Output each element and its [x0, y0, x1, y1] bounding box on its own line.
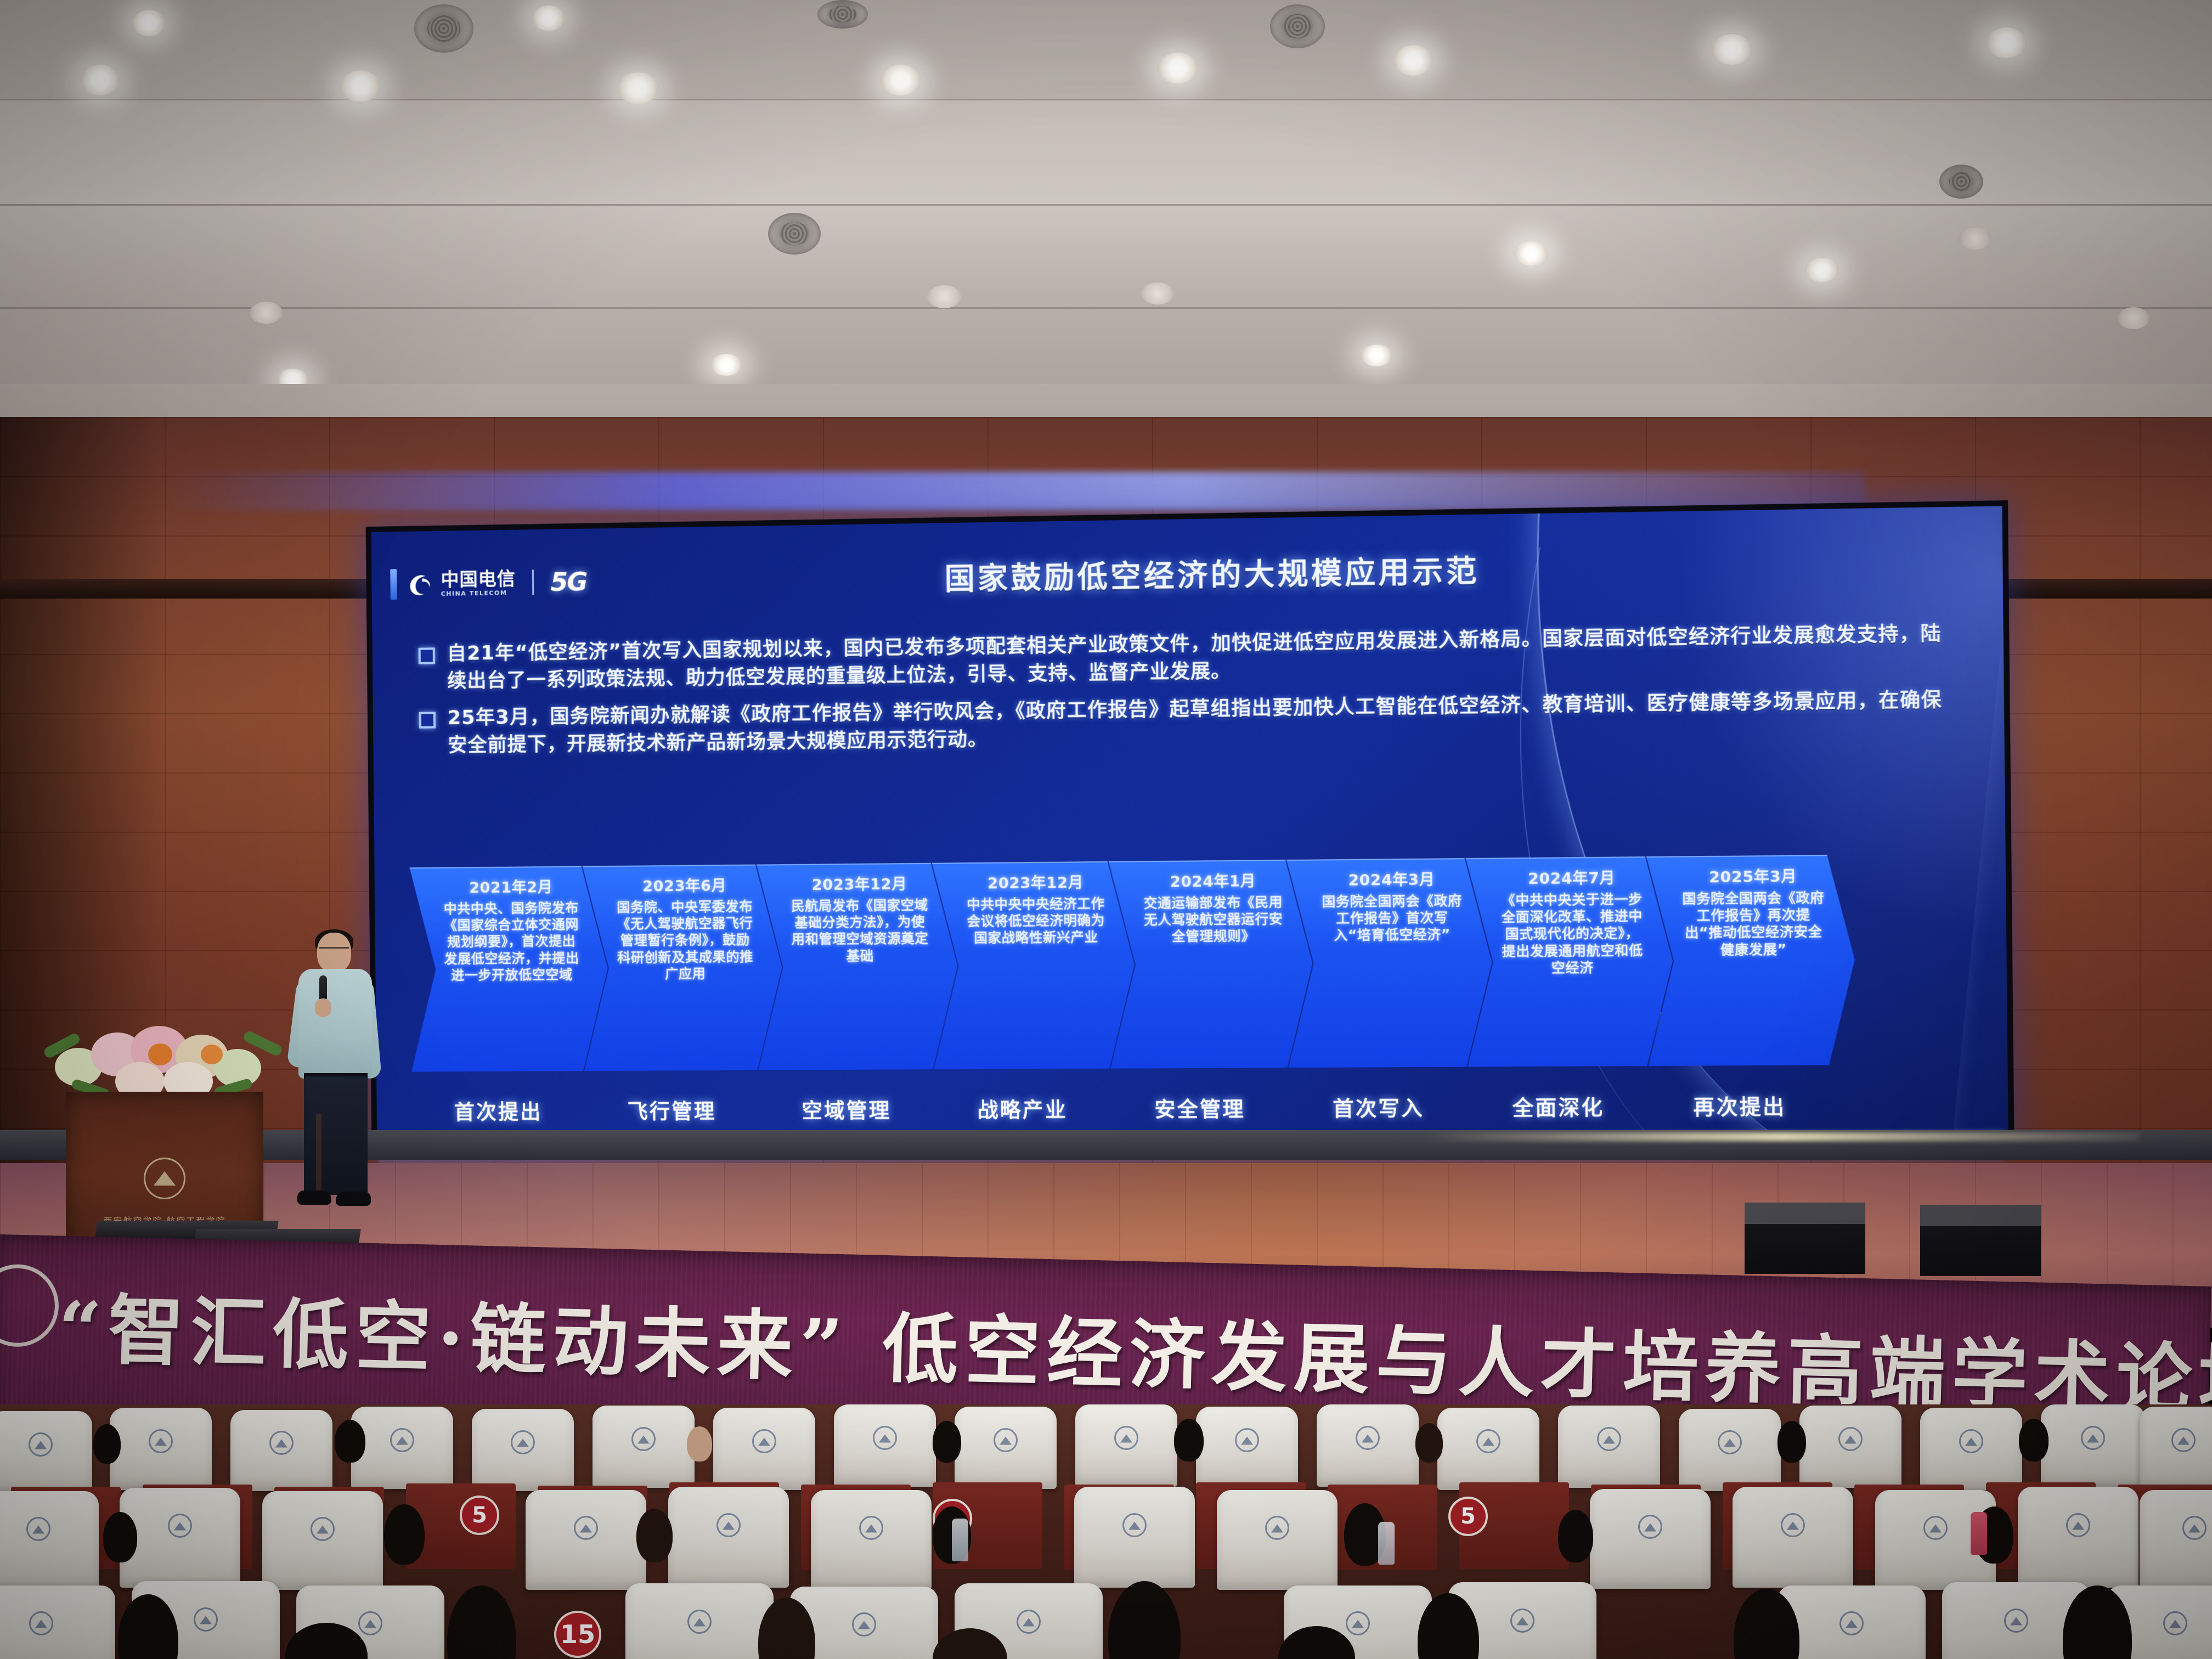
ceiling-downlight-off: [250, 302, 283, 324]
seat: [834, 1404, 936, 1487]
policy-timeline: 2021年2月 中共中央、国务院发布《国家综合立体交通网规划纲要》，首次提出发展…: [409, 855, 1830, 1071]
seat-emblem-icon: [716, 1513, 741, 1537]
audience-head: [335, 1420, 365, 1463]
timeline-step: 2024年7月 《中共中央关于进一步全面深化改革、推进中国式现代化的决定》，提出…: [1466, 856, 1674, 1067]
water-bottle: [952, 1519, 968, 1561]
seat-emblem-icon: [752, 1429, 776, 1453]
seat-emblem-icon: [2171, 1428, 2196, 1452]
seat-emblem-icon: [994, 1428, 1018, 1452]
seat: [1196, 1407, 1298, 1489]
seat-emblem-icon: [29, 1611, 53, 1635]
timeline-desc: 《中共中央关于进一步全面深化改革、推进中国式现代化的决定》，提出发展通用航空和低…: [1498, 891, 1646, 977]
ceiling-downlight: [1712, 34, 1752, 65]
timeline-label: 首次写入: [1289, 1092, 1468, 1122]
seat: [526, 1490, 646, 1590]
seat-emblem-icon: [1510, 1609, 1534, 1633]
seat: [1558, 1406, 1660, 1488]
seat-emblem-icon: [2004, 1609, 2028, 1633]
presenter-leg-gap: [316, 1114, 321, 1190]
pa-loudspeaker: [1745, 1203, 1865, 1274]
timeline-desc: 中共中央中央经济工作会议将低空经济明确为国家战略性新兴产业: [963, 895, 1108, 947]
timeline-step: 2025年3月 国务院全国两会《政府工作报告》再次提出“推动低空经济安全健康发展…: [1646, 855, 1856, 1066]
timeline-label: 战略产业: [934, 1093, 1111, 1124]
seat: [713, 1408, 815, 1490]
seat-number-badge: 5: [460, 1496, 499, 1535]
seat-emblem-icon: [1597, 1427, 1621, 1451]
audience-head: [687, 1426, 712, 1462]
seat: [1317, 1404, 1419, 1487]
seat-emblem-icon: [852, 1612, 876, 1637]
seat-emblem-icon: [149, 1429, 173, 1453]
seat-emblem-icon: [1017, 1610, 1041, 1634]
seat: [1733, 1487, 1853, 1588]
audience-head: [933, 1421, 961, 1463]
banner-seal-icon: [0, 1263, 60, 1347]
seat-emblem-icon: [511, 1430, 535, 1454]
seat: [2018, 1487, 2138, 1588]
led-screen: 中国电信 CHINA TELECOM 5G 国家鼓励低空经济的大规模应用示范 自…: [366, 500, 2015, 1147]
timeline-desc: 交通运输部发布《民用无人驾驶航空器运行安全管理规则》: [1141, 894, 1286, 945]
seat-emblem-icon: [1781, 1513, 1805, 1537]
ceiling-downlight: [1158, 53, 1198, 83]
timeline-date: 2023年12月: [988, 871, 1084, 893]
ceiling-downlight: [340, 70, 381, 102]
ceiling-downlight: [132, 10, 166, 36]
seat: [1075, 1404, 1177, 1487]
seat-emblem-icon: [168, 1514, 192, 1538]
seat-emblem-icon: [687, 1610, 712, 1634]
seat: [1074, 1487, 1195, 1588]
seat-emblem-icon: [358, 1611, 382, 1635]
ceiling-downlight: [1361, 345, 1392, 366]
seat: [1778, 1585, 1926, 1659]
seat-emblem-icon: [1346, 1611, 1370, 1635]
ceiling-vent: [817, 0, 868, 29]
seat: [2140, 1490, 2212, 1590]
glasses-icon: [319, 947, 349, 953]
presenter-shoe: [336, 1192, 371, 1206]
timeline-desc: 中共中央、国务院发布《国家综合立体交通网规划纲要》，首次提出发展低空经济，并提出…: [441, 900, 583, 984]
seat-emblem-icon: [574, 1516, 598, 1540]
presenter-shoe: [297, 1190, 331, 1205]
seat: [955, 1407, 1057, 1489]
ceiling: [0, 0, 2212, 417]
bullet-item: 自21年“低空经济”首次写入国家规划以来，国内已发布多项配套相关产业政策文件，加…: [419, 620, 1942, 696]
telecom-name-cn: 中国电信: [441, 569, 516, 589]
seat-emblem-icon: [29, 1432, 53, 1457]
ceiling-downlight-off: [1959, 228, 1991, 250]
audience-head: [1415, 1423, 1443, 1463]
audience-seating: 5 5 5 15: [0, 1404, 2212, 1659]
presenter-trousers: [304, 1076, 368, 1195]
ceiling-vent: [1939, 165, 1983, 199]
seat-emblem-icon: [390, 1428, 414, 1452]
timeline-date: 2024年1月: [1170, 869, 1256, 891]
ceiling-downlight-off: [2118, 307, 2149, 329]
seat: [1679, 1409, 1781, 1491]
ceiling-downlight-off: [927, 285, 961, 308]
seat-emblem-icon: [2081, 1426, 2105, 1450]
audience-head: [1778, 1421, 1806, 1463]
audience-head: [1558, 1510, 1593, 1562]
timeline-desc: 民航局发布《国家空域基础分类方法》，为使用和管理空域资源奠定基础: [788, 897, 932, 965]
audience-head: [103, 1512, 137, 1562]
square-bullet-icon: [419, 647, 435, 664]
presentation-slide: 中国电信 CHINA TELECOM 5G 国家鼓励低空经济的大规模应用示范 自…: [371, 506, 2008, 1141]
pa-loudspeaker: [1920, 1205, 2041, 1276]
timeline-label: 空域管理: [759, 1094, 934, 1125]
seat: [1590, 1489, 1711, 1589]
ceiling-downlight: [1393, 45, 1433, 76]
presenter-shirt: [298, 969, 372, 1079]
ceiling-downlight: [617, 72, 659, 104]
university-emblem-icon: [144, 1158, 185, 1199]
seat-emblem-icon: [1923, 1516, 1948, 1540]
audience-head: [93, 1424, 121, 1464]
seat: [110, 1408, 212, 1490]
seat: [625, 1583, 774, 1659]
timeline-label: 全面深化: [1468, 1091, 1649, 1122]
water-bottle: [1378, 1522, 1395, 1565]
seat-emblem-icon: [1114, 1426, 1138, 1450]
five-g-logo: 5G: [550, 567, 587, 597]
timeline-label: 首次提出: [411, 1095, 585, 1125]
ceiling-downlight: [1805, 258, 1839, 282]
seat: [1217, 1490, 1338, 1590]
wall-light-wash: [165, 472, 1865, 510]
seat: [2041, 1404, 2145, 1487]
timeline-step: 2023年12月 民航局发布《国家空域基础分类方法》，为使用和管理空域资源奠定基…: [757, 862, 958, 1070]
seat-emblem-icon: [1476, 1429, 1500, 1453]
seat-emblem-icon: [1838, 1427, 1863, 1451]
ceiling-vent: [768, 213, 821, 255]
ceiling-vent: [1270, 4, 1325, 48]
water-bottle: [1971, 1512, 1987, 1555]
seat: [592, 1406, 695, 1488]
seat: [0, 1491, 99, 1590]
banner-title: “智汇低空·链动未来” 低空经济发展与人才培养高端学术论坛: [57, 1268, 2188, 1427]
timeline-step: 2023年6月 国务院、中央军委发布《无人驾驶航空器飞行管理暂行条例》，鼓励科研…: [583, 864, 783, 1071]
seat-emblem-icon: [631, 1427, 656, 1451]
logo-divider: [532, 569, 534, 595]
slide-bullet-list: 自21年“低空经济”首次写入国家规划以来，国内已发布多项配套相关产业政策文件，加…: [419, 620, 1943, 770]
timeline-label: 飞行管理: [585, 1094, 759, 1125]
seat-emblem-icon: [2066, 1513, 2090, 1537]
seat: [230, 1410, 332, 1491]
seat: [1799, 1406, 1901, 1488]
seat-emblem-icon: [2163, 1611, 2187, 1635]
ceiling-downlight: [710, 354, 742, 376]
accent-bar: [390, 569, 397, 600]
slide-title: 国家鼓励低空经济的大规模应用示范: [586, 540, 1851, 603]
seat-emblem-icon: [1356, 1426, 1380, 1450]
seat-emblem-icon: [1235, 1428, 1259, 1452]
seat-emblem-icon: [1265, 1516, 1289, 1540]
seat: [668, 1487, 789, 1588]
ceiling-downlight: [1986, 27, 2027, 58]
seat: [472, 1409, 574, 1491]
timeline-date: 2023年6月: [642, 873, 727, 896]
ceiling-downlight: [881, 65, 921, 95]
stage-edge-highlight: [1426, 1132, 2140, 1141]
presenter: [285, 933, 384, 1207]
seat: [262, 1491, 383, 1590]
seat-emblem-icon: [1122, 1513, 1147, 1537]
ceiling-downlight: [1514, 241, 1548, 266]
ceiling-downlight-off: [1141, 283, 1174, 304]
seat: [120, 1488, 240, 1588]
square-bullet-icon: [419, 712, 436, 729]
audience-head: [447, 1585, 516, 1659]
audience-head: [1174, 1419, 1204, 1462]
audience-head: [384, 1504, 425, 1565]
timeline-step: 2024年1月 交通运输部发布《民用无人驾驶航空器运行安全管理规则》: [1109, 860, 1314, 1069]
timeline-desc: 国务院全国两会《政府工作报告》再次提出“推动低空经济安全健康发展”: [1679, 889, 1828, 958]
seat: [0, 1411, 92, 1493]
timeline-date: 2025年3月: [1709, 864, 1797, 887]
seat: [351, 1407, 453, 1489]
china-telecom-mark-icon: [405, 569, 435, 599]
timeline-desc: 国务院全国两会《政府工作报告》首次写入“培育低空经济”: [1319, 892, 1465, 944]
timeline-step: 2023年12月 中共中央中央经济工作会议将低空经济明确为国家战略性新兴产业: [932, 861, 1136, 1070]
timeline-label: 再次提出: [1649, 1090, 1831, 1121]
timeline-date: 2023年12月: [811, 872, 907, 894]
seat: [1437, 1408, 1539, 1490]
seat-emblem-icon: [2182, 1516, 2207, 1540]
telecom-name-en: CHINA TELECOM: [441, 590, 516, 597]
seat-emblem-icon: [194, 1607, 218, 1632]
timeline-label-row: 首次提出 飞行管理 空域管理 战略产业 安全管理 首次写入 全面深化 再次提出: [411, 1090, 1831, 1126]
seat: [0, 1585, 115, 1659]
seat-emblem-icon: [859, 1516, 883, 1540]
bullet-text: 25年3月，国务院新闻办就解读《政府工作报告》举行吹风会，《政府工作报告》起草组…: [448, 687, 1943, 760]
seat-emblem-icon: [269, 1431, 294, 1455]
audience-head: [2019, 1419, 2049, 1462]
seat-emblem-icon: [311, 1517, 335, 1541]
timeline-label: 安全管理: [1111, 1092, 1289, 1123]
china-telecom-wordmark: 中国电信 CHINA TELECOM: [441, 569, 516, 597]
ceiling-downlight: [532, 5, 565, 31]
seat-number-badge: 15: [554, 1611, 601, 1658]
presenter-hand: [315, 998, 331, 1017]
seat: [2140, 1407, 2212, 1489]
seat-emblem-icon: [873, 1426, 897, 1450]
bullet-text: 自21年“低空经济”首次写入国家规划以来，国内已发布多项配套相关产业政策文件，加…: [447, 620, 1942, 696]
audience-head: [636, 1509, 673, 1562]
seat-emblem-icon: [1839, 1611, 1864, 1635]
ceiling-downlight: [81, 65, 120, 95]
seat-number-badge: 5: [1448, 1497, 1488, 1536]
china-telecom-logo: 中国电信 CHINA TELECOM 5G: [405, 567, 586, 599]
seat-emblem-icon: [1959, 1429, 1983, 1453]
ceiling-vent: [414, 4, 473, 53]
slide-header: 中国电信 CHINA TELECOM 5G 国家鼓励低空经济的大规模应用示范: [371, 527, 2003, 618]
seat-emblem-icon: [1718, 1430, 1742, 1454]
timeline-desc: 国务院、中央军委发布《无人驾驶航空器飞行管理暂行条例》，鼓励科研创新及其成果的推…: [614, 898, 757, 983]
bullet-item: 25年3月，国务院新闻办就解读《政府工作报告》举行吹风会，《政府工作报告》起草组…: [419, 687, 1943, 760]
timeline-step: 2021年2月 中共中央、国务院发布《国家综合立体交通网规划纲要》，首次提出发展…: [409, 866, 608, 1072]
seat: [811, 1490, 932, 1590]
audience-head: [1108, 1581, 1181, 1659]
timeline-date: 2024年7月: [1528, 866, 1615, 888]
timeline-date: 2024年3月: [1348, 867, 1435, 890]
timeline-step: 2024年3月 国务院全国两会《政府工作报告》首次写入“培育低空经济”: [1286, 858, 1493, 1068]
seat-emblem-icon: [26, 1517, 50, 1541]
timeline-date: 2021年2月: [469, 875, 552, 897]
seat: [1920, 1408, 2022, 1490]
seat-emblem-icon: [1638, 1515, 1662, 1539]
